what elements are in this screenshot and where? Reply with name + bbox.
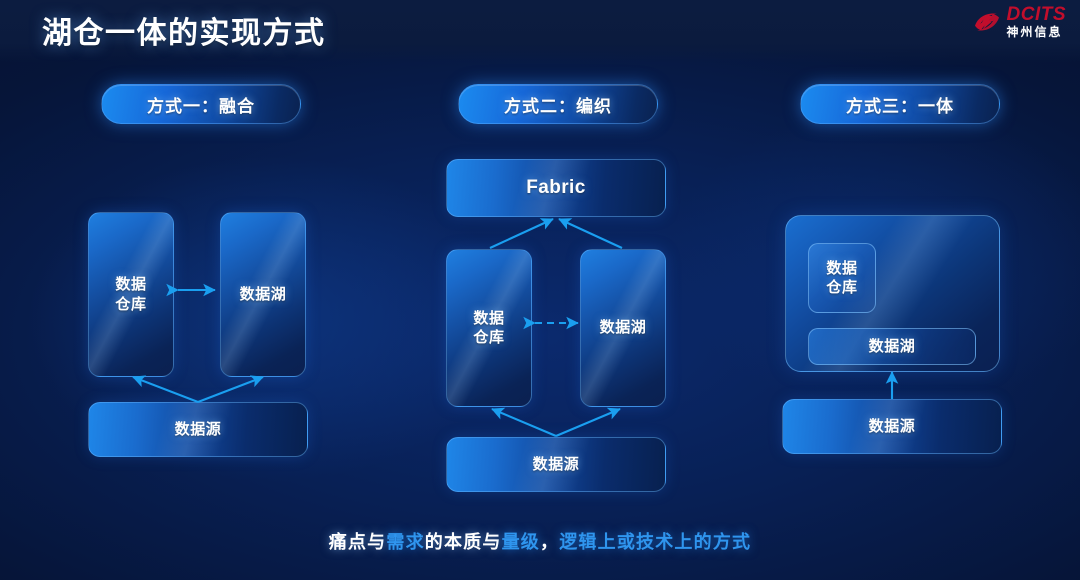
c3-data-source-bar[interactable]: 数据源 [782,399,1002,454]
label-line-2: 仓库 [473,329,504,346]
c2-fabric-label: Fabric [526,176,585,200]
c2-fabric-bar[interactable]: Fabric [446,159,666,217]
swirl-logo-icon [972,7,1002,37]
pill-method-3[interactable]: 方式三：一体 [800,84,1000,124]
footer-caption: 痛点与需求的本质与量级，逻辑上或技术上的方式 [0,528,1080,554]
footer-seg-0: 痛点与 [329,532,387,552]
footer-seg-4: ， [540,532,559,552]
logo-wordmark: DCITS 神州信息 [1007,5,1067,38]
c3-data-lake-label: 数据湖 [869,337,916,356]
c2-data-lake-card[interactable]: 数据湖 [580,249,666,407]
c2-data-source-label: 数据源 [533,455,580,474]
c1-data-lake-label: 数据湖 [240,285,287,304]
c1-data-source-label: 数据源 [175,420,222,439]
label-line-1: 数据 [473,310,504,327]
logo-text-cn: 神州信息 [1007,26,1067,38]
logo-text-en: DCITS [1007,5,1067,24]
label-line-2: 仓库 [826,279,857,296]
c3-data-warehouse-card[interactable]: 数据 仓库 [808,243,876,313]
pill-method-1-label: 方式一：融合 [147,92,255,117]
footer-seg-3: 量级 [502,532,540,552]
pill-method-2-label: 方式二：编织 [504,92,612,117]
label-line-1: 数据 [826,260,857,277]
c2-data-source-bar[interactable]: 数据源 [446,437,666,492]
c1-data-source-bar[interactable]: 数据源 [88,402,308,457]
c2-data-lake-label: 数据湖 [600,318,647,337]
c2-data-warehouse-label: 数据 仓库 [473,309,504,347]
c1-data-lake-card[interactable]: 数据湖 [220,212,306,377]
c3-data-source-label: 数据源 [869,417,916,436]
pill-method-2[interactable]: 方式二：编织 [458,84,658,124]
footer-seg-5: 逻辑上或技术上的方式 [559,532,751,552]
footer-seg-1: 需求 [386,532,424,552]
c3-data-lake-bar[interactable]: 数据湖 [808,328,976,365]
c1-data-warehouse-card[interactable]: 数据 仓库 [88,212,174,377]
label-line-1: 数据 [115,276,146,293]
pill-method-1[interactable]: 方式一：融合 [101,84,301,124]
c3-unified-container[interactable]: 数据 仓库 数据湖 [785,215,1000,372]
page-title: 湖仓一体的实现方式 [42,8,326,52]
slide-canvas: 湖仓一体的实现方式 DCITS 神州信息 方式一：融合 方式二：编织 方式三：一… [0,0,1080,580]
label-line-2: 仓库 [115,296,146,313]
footer-seg-2: 的本质与 [425,532,502,552]
pill-method-3-label: 方式三：一体 [846,92,954,117]
c2-data-warehouse-card[interactable]: 数据 仓库 [446,249,532,407]
brand-logo: DCITS 神州信息 [972,5,1067,38]
c3-data-warehouse-label: 数据 仓库 [826,259,857,297]
c1-data-warehouse-label: 数据 仓库 [115,275,146,313]
